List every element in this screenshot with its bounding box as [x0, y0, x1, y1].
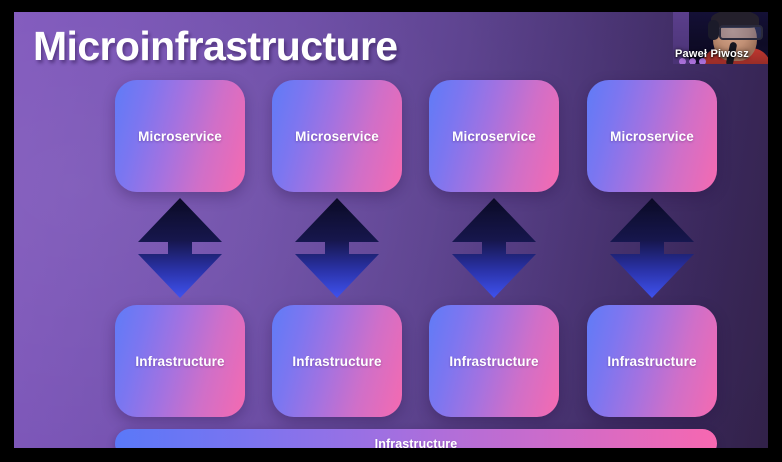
infrastructure-card-1[interactable]: Infrastructure [115, 305, 245, 417]
microservice-card-2[interactable]: Microservice [272, 80, 402, 192]
page-title: Microinfrastructure [33, 26, 398, 67]
double-arrow-icon [610, 198, 694, 298]
infrastructure-card-label: Infrastructure [292, 354, 381, 369]
infrastructure-card-label: Infrastructure [135, 354, 224, 369]
microservice-card-4[interactable]: Microservice [587, 80, 717, 192]
microservice-card-label: Microservice [452, 129, 536, 144]
double-arrow-icon [295, 198, 379, 298]
webcam-participant-name: Paweł Piwosz [675, 48, 749, 60]
microservice-card-label: Microservice [295, 129, 379, 144]
infrastructure-card-label: Infrastructure [449, 354, 538, 369]
infrastructure-card-3[interactable]: Infrastructure [429, 305, 559, 417]
microservice-card-label: Microservice [138, 129, 222, 144]
screen-frame: Microinfrastructure Microservice Microse… [0, 0, 782, 462]
double-arrow-icon [138, 198, 222, 298]
double-arrow-icon [452, 198, 536, 298]
infrastructure-bar[interactable]: Infrastructure [115, 429, 717, 448]
webcam-overlay[interactable]: Paweł Piwosz [673, 12, 768, 64]
infrastructure-card-4[interactable]: Infrastructure [587, 305, 717, 417]
microservice-card-1[interactable]: Microservice [115, 80, 245, 192]
infrastructure-card-2[interactable]: Infrastructure [272, 305, 402, 417]
microservice-card-label: Microservice [610, 129, 694, 144]
glasses-icon [719, 25, 763, 40]
presentation-slide: Microinfrastructure Microservice Microse… [14, 12, 768, 448]
microservice-card-3[interactable]: Microservice [429, 80, 559, 192]
infrastructure-bar-label: Infrastructure [375, 437, 458, 449]
infrastructure-card-label: Infrastructure [607, 354, 696, 369]
headphone-icon [708, 20, 719, 40]
